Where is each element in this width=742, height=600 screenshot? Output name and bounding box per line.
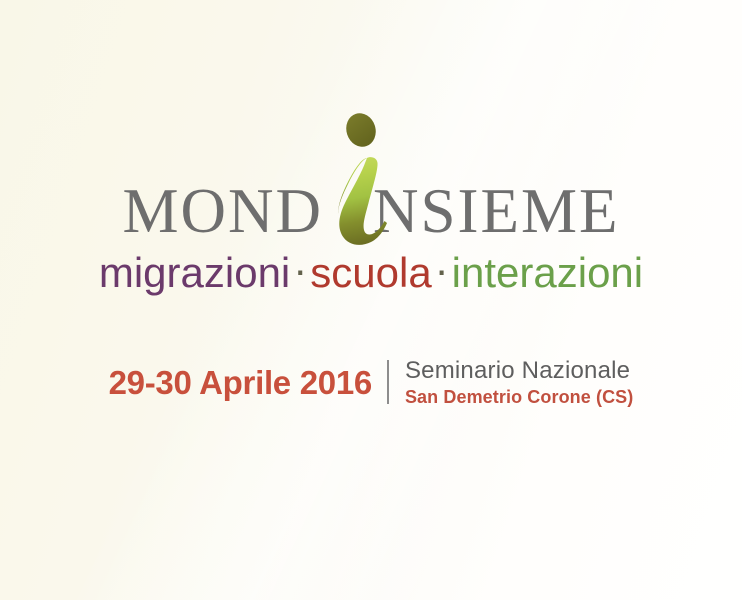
tagline-word-migrazioni: migrazioni	[99, 249, 290, 296]
tagline-word-scuola: scuola	[310, 249, 431, 296]
tagline-word-interazioni: interazioni	[452, 249, 643, 296]
wordmark-prefix: MOND	[122, 180, 323, 243]
tagline-separator-2: ·	[432, 246, 452, 293]
logo-tagline: migrazioni·scuola·interazioni	[0, 252, 742, 294]
event-banner: MONDNSIEME	[0, 0, 742, 600]
logo-wordmark: MONDNSIEME	[122, 180, 619, 243]
seminar-info-cell: Seminario Nazionale San Demetrio Corone …	[389, 358, 633, 408]
event-date: 29-30 Aprile 2016	[109, 364, 372, 402]
seminar-location: San Demetrio Corone (CS)	[405, 387, 633, 409]
tagline-separator-1: ·	[290, 246, 310, 293]
event-info: 29-30 Aprile 2016 Seminario Nazionale Sa…	[0, 358, 742, 408]
logo-lockup: MONDNSIEME	[0, 108, 742, 253]
seminar-title: Seminario Nazionale	[405, 358, 633, 385]
wordmark-suffix: NSIEME	[373, 180, 620, 243]
event-date-cell: 29-30 Aprile 2016	[109, 358, 387, 408]
